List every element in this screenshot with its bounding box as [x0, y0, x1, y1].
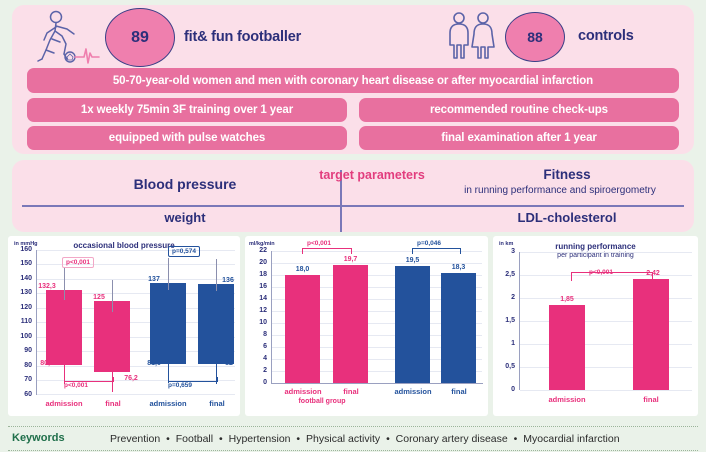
chart2-ytick: 10 — [245, 319, 267, 326]
man-and-woman-icon — [444, 11, 502, 61]
chart2-value-label: 19,7 — [333, 256, 368, 263]
chart2-bar-controls-admission — [395, 266, 430, 383]
target-parameters-title: target parameters — [302, 168, 442, 182]
chart3-ytick: 1 — [493, 340, 515, 347]
chart1-xlabel: admission — [38, 399, 90, 408]
keyword-separator: • — [511, 433, 521, 445]
chart1-ytick: 90 — [10, 347, 32, 354]
chart1-title: occasional blood pressure — [8, 241, 240, 250]
parameter-fitness-subtitle: in running performance and spiroergometr… — [410, 185, 706, 196]
chart2-ytick: 8 — [245, 331, 267, 338]
chart1-ytick: 70 — [10, 376, 32, 383]
chart2-y-axis — [271, 251, 272, 384]
chart1-pvalue-diastolic-football: p<0,001 — [64, 382, 88, 389]
chart2-ytick: 18 — [245, 271, 267, 278]
chart3-gridline — [520, 390, 692, 391]
chart1-gridline — [37, 394, 235, 395]
chart1-ytick: 130 — [10, 289, 32, 296]
keywords-title: Keywords — [12, 432, 65, 444]
chart1-pvalue-systolic-football: p<0,001 — [62, 257, 94, 268]
chart2-bar-football-admission — [285, 275, 320, 383]
keyword-separator: • — [383, 433, 393, 445]
chart3-y-unit: in km — [499, 241, 513, 247]
parameter-blood-pressure: Blood pressure — [70, 176, 300, 192]
control-band-checkups: recommended routine check-ups — [359, 98, 679, 122]
keyword-separator: • — [163, 433, 173, 445]
chart2-value-label: 18,0 — [285, 266, 320, 273]
keywords-list: Prevention • Football • Hypertension • P… — [110, 433, 620, 445]
chart1-ytick: 110 — [10, 318, 32, 325]
chart1-bar-controls-final — [198, 284, 234, 364]
control-band-final-exam: final examination after 1 year — [359, 126, 679, 150]
chart2-xlabel: final — [443, 387, 475, 396]
cohort-row: 89 fit& fun footballer 88 controls — [12, 5, 694, 67]
chart-spiroergometry: ml/kg/min 22 20 18 16 14 12 10 8 6 4 2 0… — [245, 236, 488, 416]
chart1-xlabel: final — [200, 399, 234, 408]
chart2-ytick: 6 — [245, 343, 267, 350]
chart2-ytick: 20 — [245, 259, 267, 266]
chart2-xlabel: final — [335, 387, 367, 396]
chart1-bracket-controls — [168, 377, 218, 382]
chart3-bar-final — [633, 279, 669, 390]
chart2-x-axis — [271, 383, 483, 384]
chart1-value-label: 80,7 — [32, 360, 62, 367]
chart2-bar-football-final — [333, 265, 368, 383]
chart1-gridline — [37, 279, 235, 280]
chart3-bracket — [571, 272, 653, 281]
study-design-card: 89 fit& fun footballer 88 controls 50-70… — [12, 5, 694, 154]
keywords-divider-top — [8, 426, 698, 427]
chart1-value-label: 137 — [139, 276, 169, 283]
chart2-ytick: 16 — [245, 283, 267, 290]
chart1-ytick: 140 — [10, 275, 32, 282]
chart2-bar-controls-final — [441, 273, 476, 383]
chart1-bar-controls-admission — [150, 283, 186, 364]
intervention-band-training: 1x weekly 75min 3F training over 1 year — [27, 98, 347, 122]
parameter-ldl-cholesterol: LDL-cholesterol — [432, 210, 702, 225]
chart1-value-label: 132,3 — [30, 283, 64, 290]
chart1-errorbar — [112, 360, 113, 392]
chart1-value-label: 125 — [82, 294, 116, 301]
controls-count-bubble: 88 — [505, 12, 565, 62]
chart2-group-label: football group — [277, 398, 367, 405]
chart2-ytick: 4 — [245, 355, 267, 362]
chart2-xlabel: admission — [387, 387, 439, 396]
controls-count: 88 — [527, 29, 543, 45]
chart3-ytick: 2,5 — [493, 271, 515, 278]
chart2-xlabel: admission — [277, 387, 329, 396]
chart1-pvalue-systolic-controls: p=0,574 — [168, 246, 200, 257]
inclusion-criteria-band: 50-70-year-old women and men with corona… — [27, 68, 679, 93]
chart2-ytick: 14 — [245, 295, 267, 302]
chart2-ytick: 22 — [245, 247, 267, 254]
chart3-bar-admission — [549, 305, 585, 390]
chart2-pvalue-controls: p=0,046 — [417, 240, 441, 247]
chart1-ytick: 100 — [10, 333, 32, 340]
keyword-separator: • — [293, 433, 303, 445]
keywords-divider-bottom — [8, 450, 698, 451]
chart3-ytick: 3 — [493, 248, 515, 255]
chart3-subtitle: per participant in training — [493, 252, 698, 259]
chart3-value-label: 1,85 — [549, 296, 585, 303]
chart3-gridline — [520, 252, 692, 253]
keyword-item: Prevention — [110, 433, 160, 445]
keyword-separator: • — [216, 433, 226, 445]
chart1-xlabel: admission — [142, 399, 194, 408]
chart1-pvalue-diastolic-controls: p=0,659 — [168, 382, 192, 389]
chart-blood-pressure: occasional blood pressure in mmHg 160 15… — [8, 236, 240, 416]
chart1-ytick: 60 — [10, 391, 32, 398]
chart1-ytick: 150 — [10, 260, 32, 267]
chart1-ytick: 80 — [10, 362, 32, 369]
chart1-value-label: 136 — [216, 277, 240, 284]
chart-running-performance: running performance per participant in t… — [493, 236, 698, 416]
chart2-ytick: 2 — [245, 367, 267, 374]
chart2-pvalue-football: p<0,001 — [307, 240, 331, 247]
chart1-value-label: 81,6 — [139, 360, 169, 367]
chart3-title: running performance — [493, 242, 698, 251]
controls-label: controls — [578, 28, 634, 44]
parameters-horizontal-divider — [22, 205, 684, 207]
chart1-errorbar — [168, 258, 169, 290]
chart1-value-label: 82 — [220, 360, 238, 367]
keyword-item: Hypertension — [229, 433, 291, 445]
chart1-gridline — [37, 366, 235, 367]
chart1-gridline — [37, 250, 235, 251]
footballer-count: 89 — [131, 29, 149, 47]
target-parameters-card: target parameters Blood pressure weight … — [12, 160, 694, 232]
chart2-bracket-football — [302, 248, 352, 254]
keyword-item: Football — [176, 433, 213, 445]
chart1-ytick: 120 — [10, 304, 32, 311]
chart2-value-label: 18,3 — [441, 264, 476, 271]
chart3-xlabel: admission — [541, 395, 593, 404]
chart3-ytick: 0,5 — [493, 363, 515, 370]
chart2-value-label: 19,5 — [395, 257, 430, 264]
chart2-ytick: 0 — [245, 379, 267, 386]
chart1-errorbar — [216, 259, 217, 291]
chart1-value-label: 76,2 — [116, 375, 146, 382]
keyword-item: Coronary artery disease — [396, 433, 508, 445]
keyword-item: Physical activity — [306, 433, 380, 445]
footballer-count-bubble: 89 — [105, 8, 175, 67]
chart3-ytick: 2 — [493, 294, 515, 301]
chart2-bracket-controls — [412, 248, 461, 254]
chart1-errorbar — [64, 268, 65, 300]
graphical-abstract: 89 fit& fun footballer 88 controls 50-70… — [0, 0, 706, 452]
chart1-ytick: 160 — [10, 246, 32, 253]
parameter-fitness: Fitness — [432, 167, 702, 182]
footballer-label: fit& fun footballer — [184, 29, 301, 45]
chart1-bracket-football — [64, 377, 114, 382]
footballer-with-ball-and-ecg-icon — [26, 9, 102, 65]
intervention-band-pulse-watches: equipped with pulse watches — [27, 126, 347, 150]
chart1-xlabel: final — [96, 399, 130, 408]
chart3-ytick: 0 — [493, 386, 515, 393]
chart3-ytick: 1,5 — [493, 317, 515, 324]
parameter-weight: weight — [70, 210, 300, 225]
keyword-item: Myocardial infarction — [523, 433, 619, 445]
chart3-xlabel: final — [635, 395, 667, 404]
chart2-ytick: 12 — [245, 307, 267, 314]
